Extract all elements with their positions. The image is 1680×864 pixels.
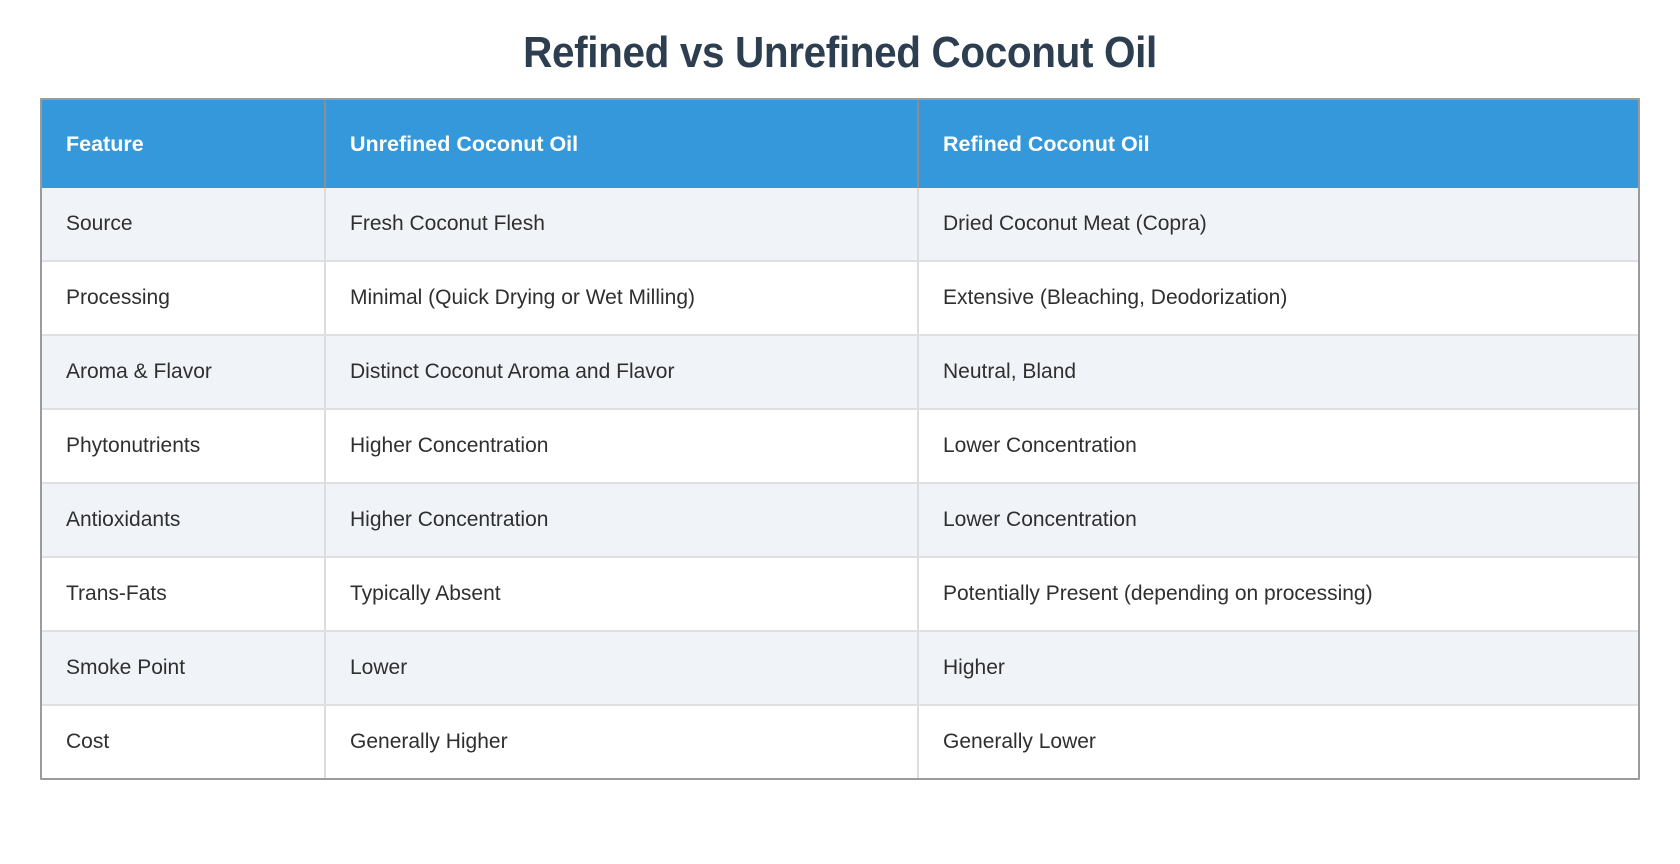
comparison-page: Refined vs Unrefined Coconut Oil Feature… xyxy=(0,0,1680,864)
cell-unrefined: Distinct Coconut Aroma and Flavor xyxy=(325,335,918,409)
cell-unrefined: Higher Concentration xyxy=(325,483,918,557)
cell-refined: Higher xyxy=(918,631,1638,705)
cell-feature: Smoke Point xyxy=(42,631,325,705)
comparison-table-container: Feature Unrefined Coconut Oil Refined Co… xyxy=(40,98,1640,780)
cell-feature: Antioxidants xyxy=(42,483,325,557)
cell-feature: Cost xyxy=(42,705,325,778)
table-row: Antioxidants Higher Concentration Lower … xyxy=(42,483,1638,557)
table-row: Source Fresh Coconut Flesh Dried Coconut… xyxy=(42,188,1638,261)
cell-refined: Extensive (Bleaching, Deodorization) xyxy=(918,261,1638,335)
column-header-feature: Feature xyxy=(42,100,325,188)
cell-unrefined: Lower xyxy=(325,631,918,705)
column-header-refined: Refined Coconut Oil xyxy=(918,100,1638,188)
cell-refined: Generally Lower xyxy=(918,705,1638,778)
cell-unrefined: Generally Higher xyxy=(325,705,918,778)
cell-unrefined: Typically Absent xyxy=(325,557,918,631)
table-row: Aroma & Flavor Distinct Coconut Aroma an… xyxy=(42,335,1638,409)
cell-refined: Lower Concentration xyxy=(918,409,1638,483)
cell-feature: Phytonutrients xyxy=(42,409,325,483)
cell-unrefined: Fresh Coconut Flesh xyxy=(325,188,918,261)
table-header-row: Feature Unrefined Coconut Oil Refined Co… xyxy=(42,100,1638,188)
cell-refined: Lower Concentration xyxy=(918,483,1638,557)
table-row: Phytonutrients Higher Concentration Lowe… xyxy=(42,409,1638,483)
cell-unrefined: Minimal (Quick Drying or Wet Milling) xyxy=(325,261,918,335)
table-row: Trans-Fats Typically Absent Potentially … xyxy=(42,557,1638,631)
column-header-unrefined: Unrefined Coconut Oil xyxy=(325,100,918,188)
cell-refined: Neutral, Bland xyxy=(918,335,1638,409)
table-row: Smoke Point Lower Higher xyxy=(42,631,1638,705)
cell-feature: Processing xyxy=(42,261,325,335)
table-row: Cost Generally Higher Generally Lower xyxy=(42,705,1638,778)
cell-refined: Dried Coconut Meat (Copra) xyxy=(918,188,1638,261)
cell-feature: Source xyxy=(42,188,325,261)
table-row: Processing Minimal (Quick Drying or Wet … xyxy=(42,261,1638,335)
cell-feature: Aroma & Flavor xyxy=(42,335,325,409)
cell-unrefined: Higher Concentration xyxy=(325,409,918,483)
page-title: Refined vs Unrefined Coconut Oil xyxy=(67,0,1613,80)
table-header: Feature Unrefined Coconut Oil Refined Co… xyxy=(42,100,1638,188)
cell-refined: Potentially Present (depending on proces… xyxy=(918,557,1638,631)
cell-feature: Trans-Fats xyxy=(42,557,325,631)
table-body: Source Fresh Coconut Flesh Dried Coconut… xyxy=(42,188,1638,778)
comparison-table: Feature Unrefined Coconut Oil Refined Co… xyxy=(42,100,1638,778)
